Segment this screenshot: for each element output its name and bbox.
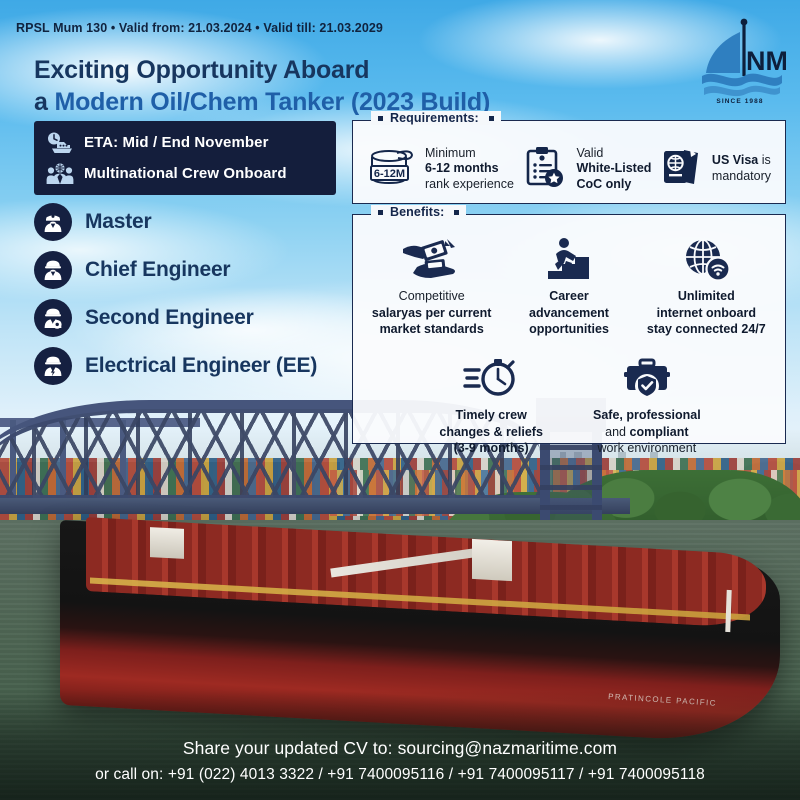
ben-line-3: (3-9 months) <box>454 441 529 455</box>
headline-line-1: Exciting Opportunity Aboard <box>34 54 490 86</box>
voyage-info-box: ETA: Mid / End November Multinational Cr… <box>34 121 336 195</box>
ben-line-3: market standards <box>380 322 484 336</box>
license-line: RPSL Mum 130 • Valid from: 21.03.2024 • … <box>16 21 383 35</box>
ben-line-2-prefix: and <box>605 425 629 439</box>
benefit-text-salary: Competitive salaryas per current market … <box>372 288 492 338</box>
benefit-item-salary: Competitive salaryas per current market … <box>363 235 500 338</box>
rank-label: Second Engineer <box>85 306 254 330</box>
clipboard-star-icon <box>522 144 568 195</box>
requirements-title: Requirements: <box>390 111 479 125</box>
ben-line-3: stay connected 24/7 <box>647 322 766 336</box>
tin-6-12m-icon: 6-12M <box>367 144 417 195</box>
ben-line-2: advancement <box>529 306 609 320</box>
requirement-item-coc: Valid White-Listed CoC only <box>522 144 651 195</box>
ben-line-1: Competitive <box>399 289 465 303</box>
stopwatch-icon <box>463 354 519 400</box>
poster-content: RPSL Mum 130 • Valid from: 21.03.2024 • … <box>0 0 800 800</box>
requirement-item-experience: 6-12M Minimum 6-12 months rank experienc… <box>367 144 514 195</box>
benefit-item-safe-work: Safe, professional and compliant work en… <box>583 354 711 457</box>
sailboat-waves-logo-icon: NMS <box>694 18 786 104</box>
benefits-panel: Benefits: <box>352 214 786 444</box>
company-logo: NMS SINCE 1988 <box>694 18 786 118</box>
crew-text: Multinational Crew Onboard <box>84 165 287 182</box>
headline-line-2-prefix: a <box>34 88 54 116</box>
contact-phone-line[interactable]: or call on: +91 (022) 4013 3322 / +91 74… <box>0 766 800 784</box>
contact-footer: Share your updated CV to: sourcing@nazma… <box>0 738 800 784</box>
req-line-2: mandatory <box>712 169 771 183</box>
money-hand-icon <box>401 235 463 281</box>
rank-item-chief-engineer[interactable]: Chief Engineer <box>34 251 317 289</box>
passport-globe-icon <box>660 144 704 195</box>
captain-icon <box>34 203 72 241</box>
ben-line-1: Timely crew <box>455 408 526 422</box>
ben-line-3: opportunities <box>529 322 609 336</box>
engineer-icon <box>34 251 72 289</box>
eta-row: ETA: Mid / End November <box>46 131 324 155</box>
globe-wifi-icon <box>681 235 731 281</box>
bullet-square-icon <box>489 116 494 121</box>
req-line-3: CoC only <box>576 177 631 191</box>
req-line-1: Minimum <box>425 146 476 160</box>
svg-text:6-12M: 6-12M <box>374 168 405 180</box>
ben-line-2: internet onboard <box>657 306 756 320</box>
benefit-item-career: Career advancement opportunities <box>500 235 637 338</box>
req-line-1: US Visa <box>712 153 758 167</box>
req-line-1: Valid <box>576 146 603 160</box>
req-line-2: 6-12 months <box>425 161 499 175</box>
rank-item-second-engineer[interactable]: Second Engineer <box>34 299 317 337</box>
benefit-item-crew-change: Timely crew changes & reliefs (3-9 month… <box>427 354 555 457</box>
requirements-panel: Requirements: 6-12M Minimum 6-12 months <box>352 120 786 204</box>
requirement-text-experience: Minimum 6-12 months rank experience <box>425 146 514 193</box>
engineer-gear-icon <box>34 299 72 337</box>
req-line-3-text: CoC only <box>576 177 631 191</box>
ben-line-2: changes & reliefs <box>439 425 543 439</box>
benefit-text-crew-change: Timely crew changes & reliefs (3-9 month… <box>439 407 543 457</box>
bullet-square-icon <box>454 210 459 215</box>
page-title: Exciting Opportunity Aboard a Modern Oil… <box>34 54 490 118</box>
ben-line-2: salaryas per current <box>372 306 492 320</box>
ben-line-1: Unlimited <box>678 289 735 303</box>
requirement-text-coc: Valid White-Listed CoC only <box>576 146 651 193</box>
rank-label: Chief Engineer <box>85 258 230 282</box>
rank-item-master[interactable]: Master <box>34 203 317 241</box>
req-line-1-tail: is <box>758 153 771 167</box>
requirements-row: 6-12M Minimum 6-12 months rank experienc… <box>353 121 785 203</box>
benefit-text-career: Career advancement opportunities <box>529 288 609 338</box>
requirement-text-us-visa: US Visa is mandatory <box>712 153 771 184</box>
ben-line-1: Career <box>549 289 589 303</box>
benefits-grid: Competitive salaryas per current market … <box>353 215 785 457</box>
crew-row: Multinational Crew Onboard <box>46 162 324 186</box>
benefits-title: Benefits: <box>390 205 444 219</box>
svg-text:NMS: NMS <box>746 46 786 76</box>
briefcase-shield-icon <box>622 354 672 400</box>
benefits-title-wrap: Benefits: <box>371 205 466 219</box>
benefit-text-internet: Unlimited internet onboard stay connecte… <box>647 288 766 338</box>
requirement-item-us-visa: US Visa is mandatory <box>660 144 771 195</box>
contact-email-line[interactable]: Share your updated CV to: sourcing@nazma… <box>0 738 800 759</box>
ben-line-2: compliant <box>630 425 689 439</box>
bullet-square-icon <box>378 210 383 215</box>
requirements-title-wrap: Requirements: <box>371 111 501 125</box>
logo-tagline: SINCE 1988 <box>694 98 786 105</box>
ben-line-3: work environment <box>598 441 697 455</box>
rank-label: Electrical Engineer (EE) <box>85 354 317 378</box>
req-line-3: rank experience <box>425 177 514 191</box>
benefit-item-internet: Unlimited internet onboard stay connecte… <box>638 235 775 338</box>
eta-text: ETA: Mid / End November <box>84 134 269 151</box>
req-line-2: White-Listed <box>576 161 651 175</box>
rank-item-electrical-engineer[interactable]: Electrical Engineer (EE) <box>34 347 317 385</box>
ship-clock-icon <box>46 131 74 155</box>
benefit-text-safe-work: Safe, professional and compliant work en… <box>593 407 701 457</box>
career-stairs-icon <box>542 235 596 281</box>
rank-label: Master <box>85 210 152 234</box>
benefits-row-2: Timely crew changes & reliefs (3-9 month… <box>363 354 775 457</box>
rank-list: Master Chief Engineer <box>34 203 317 385</box>
bullet-square-icon <box>378 116 383 121</box>
ben-line-1: Safe, professional <box>593 408 701 422</box>
electrical-engineer-icon <box>34 347 72 385</box>
crew-globe-icon <box>46 162 74 186</box>
